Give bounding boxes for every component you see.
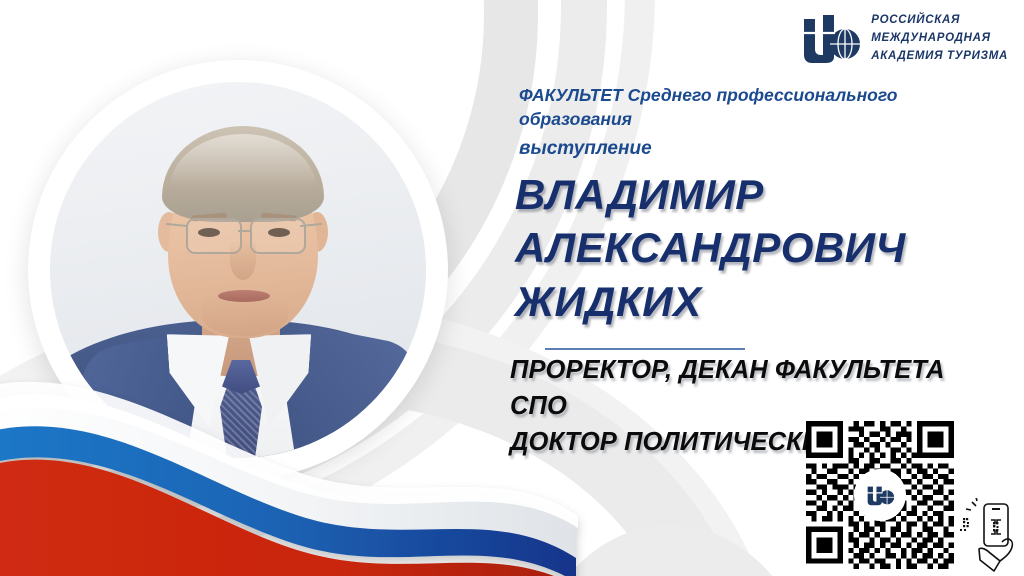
speaker-first-name: ВЛАДИМИР (515, 168, 985, 221)
academy-logo: РОССИЙСКАЯ МЕЖДУНАРОДНАЯ АКАДЕМИЯ ТУРИЗМ… (799, 12, 1008, 65)
logo-line-2: МЕЖДУНАРОДНАЯ (871, 30, 1008, 48)
rmat-monogram-small-icon (865, 484, 895, 507)
qr-center-logo (854, 469, 906, 521)
speaker-portrait (28, 60, 458, 530)
logo-line-3: АКАДЕМИЯ ТУРИЗМА (871, 48, 1008, 66)
speaker-name: ВЛАДИМИР АЛЕКСАНДРОВИЧ ЖИДКИХ (515, 168, 985, 328)
speaker-last-name: ЖИДКИХ (515, 275, 985, 328)
position-line-1: ПРОРЕКТОР, ДЕКАН ФАКУЛЬТЕТА СПО (510, 352, 980, 424)
speaker-title-slide: РОССИЙСКАЯ МЕЖДУНАРОДНАЯ АКАДЕМИЯ ТУРИЗМ… (0, 0, 1024, 576)
divider-rule (545, 348, 745, 350)
portrait-image (50, 82, 426, 458)
logo-line-1: РОССИЙСКАЯ (871, 12, 1008, 30)
speaker-patronymic: АЛЕКСАНДРОВИЧ (515, 221, 985, 274)
event-heading: выступление (519, 138, 652, 160)
faculty-heading: ФАКУЛЬТЕТ Среднего профессионального обр… (519, 84, 949, 131)
hand-holding-phone-scanning-qr-icon (958, 498, 1020, 574)
qr-code[interactable] (806, 421, 954, 569)
rmat-monogram-globe-icon (799, 13, 861, 65)
